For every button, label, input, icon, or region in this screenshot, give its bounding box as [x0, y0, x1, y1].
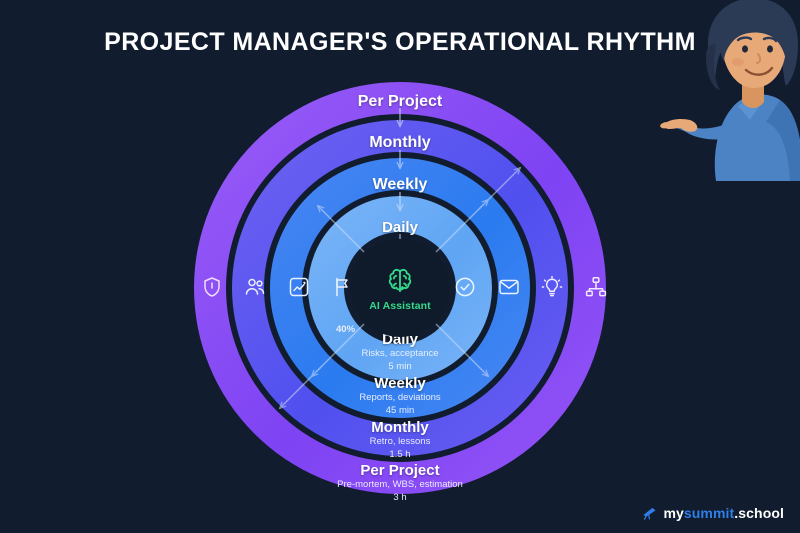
ring-block-monthly: Monthly Retro, lessons 1.5 h: [0, 419, 800, 461]
ring-block-daily-time: 5 min: [0, 361, 800, 373]
ring-block-monthly-title: Monthly: [0, 419, 800, 436]
mysummit-school-logo[interactable]: mysummit.school: [641, 504, 784, 521]
lightbulb-icon[interactable]: [539, 274, 565, 300]
logo-text-my: my: [663, 505, 683, 521]
ring-block-weekly-time: 45 min: [0, 405, 800, 417]
ring-block-weekly-title: Weekly: [0, 375, 800, 392]
telescope-icon: [641, 504, 658, 521]
ring-block-weekly: Weekly Reports, deviations 45 min: [0, 375, 800, 417]
brain-icon: [383, 264, 417, 298]
ring-block-monthly-time: 1.5 h: [0, 449, 800, 461]
envelope-icon[interactable]: [496, 274, 522, 300]
ring-block-daily-desc: Risks, acceptance: [0, 348, 800, 360]
team-icon[interactable]: [242, 274, 268, 300]
ring-block-per-project-desc: Pre-mortem, WBS, estimation: [0, 479, 800, 491]
pointing-woman-illustration: [646, 0, 800, 181]
logo-text-school: .school: [734, 505, 784, 521]
ring-block-daily: Daily Risks, acceptance 5 min: [0, 331, 800, 373]
ring-block-per-project-title: Per Project: [0, 462, 800, 479]
ring-block-monthly-desc: Retro, lessons: [0, 436, 800, 448]
chart-up-icon[interactable]: [286, 274, 312, 300]
logo-text-summit: summit: [684, 505, 734, 521]
ai-assistant-label: AI Assistant: [369, 300, 431, 312]
ring-label-daily: Daily: [0, 219, 800, 236]
hierarchy-icon[interactable]: [583, 274, 609, 300]
flag-icon[interactable]: [330, 274, 356, 300]
percent-badge: 40%: [336, 324, 355, 335]
check-circle-icon[interactable]: [452, 274, 478, 300]
ring-block-weekly-desc: Reports, deviations: [0, 392, 800, 404]
shield-icon[interactable]: [199, 274, 225, 300]
ring-block-per-project-time: 3 h: [0, 492, 800, 504]
ai-assistant-hub[interactable]: AI Assistant: [351, 239, 449, 337]
ring-block-per-project: Per Project Pre-mortem, WBS, estimation …: [0, 462, 800, 504]
